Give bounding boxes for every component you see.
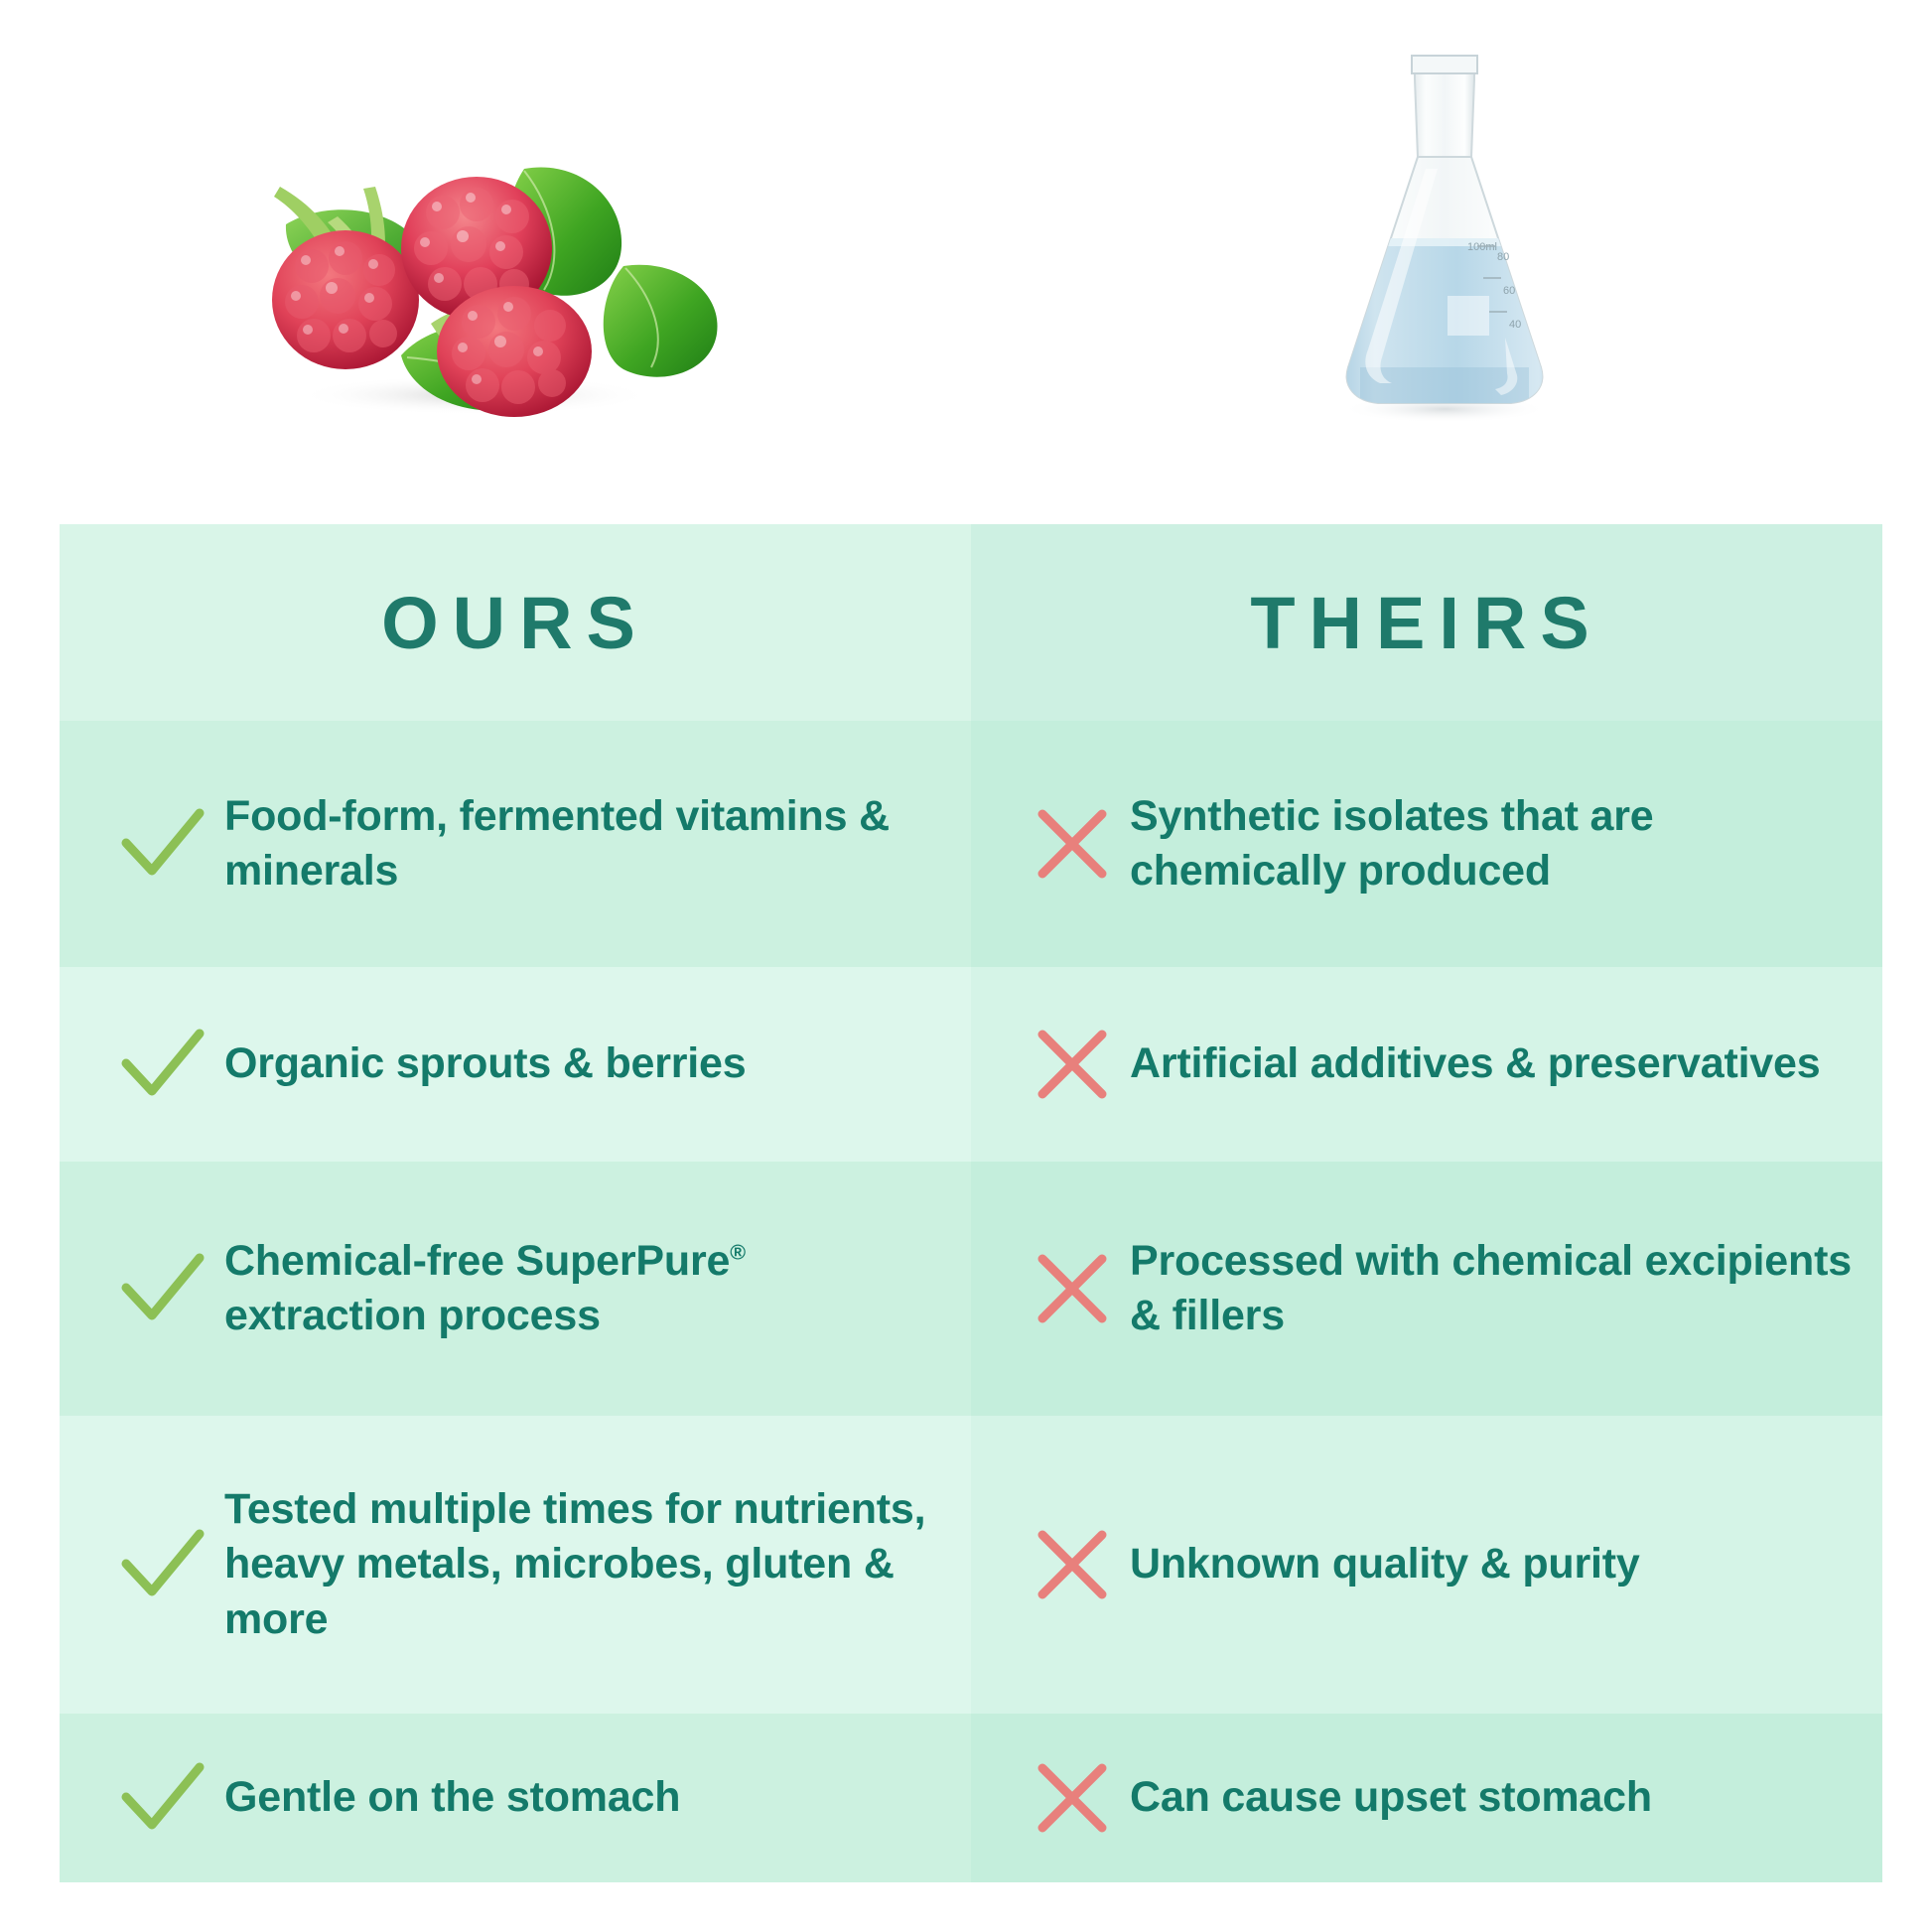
flask-label-40: 40	[1509, 319, 1521, 331]
row-text: Artificial additives & preservatives	[1130, 1036, 1820, 1091]
check-icon	[115, 805, 210, 883]
table-row: Synthetic isolates that are chemically p…	[971, 721, 1882, 967]
table-row: Processed with chemical excipients & fil…	[971, 1162, 1882, 1416]
table-row: Chemical-free SuperPure® extraction proc…	[60, 1162, 971, 1416]
cross-icon	[1027, 1027, 1118, 1102]
row-text-part2: extraction process	[224, 1292, 601, 1339]
hero-images: 100ml 80 60 40	[0, 0, 1932, 516]
comparison-infographic: 100ml 80 60 40 OURS	[0, 0, 1932, 1932]
table-row: Unknown quality & purity	[971, 1416, 1882, 1714]
row-text: Synthetic isolates that are chemically p…	[1130, 789, 1853, 898]
comparison-table: OURS Food-form, fermented vitamins & min…	[60, 524, 1882, 1882]
check-icon	[115, 1526, 210, 1603]
table-row: Food-form, fermented vitamins & minerals	[60, 721, 971, 967]
column-header-ours: OURS	[60, 524, 971, 721]
row-text: Gentle on the stomach	[224, 1770, 680, 1825]
table-row: Tested multiple times for nutrients, hea…	[60, 1416, 971, 1714]
cross-icon	[1027, 1251, 1118, 1326]
registered-mark: ®	[730, 1241, 746, 1265]
check-icon	[115, 1759, 210, 1837]
table-row: Artificial additives & preservatives	[971, 967, 1882, 1162]
laboratory-flask-image: 100ml 80 60 40	[1320, 40, 1569, 457]
column-ours: OURS Food-form, fermented vitamins & min…	[60, 524, 971, 1882]
check-icon	[115, 1026, 210, 1103]
flask-label-60: 60	[1503, 285, 1515, 297]
column-header-theirs: THEIRS	[971, 524, 1882, 721]
raspberry-3	[437, 286, 592, 417]
row-text: Organic sprouts & berries	[224, 1036, 747, 1091]
cross-icon	[1027, 1760, 1118, 1836]
row-text: Can cause upset stomach	[1130, 1770, 1652, 1825]
cross-icon	[1027, 1527, 1118, 1602]
flask-label-80: 80	[1497, 251, 1509, 263]
table-row: Organic sprouts & berries	[60, 967, 971, 1162]
check-icon	[115, 1250, 210, 1327]
cross-icon	[1027, 806, 1118, 882]
flask-label-100ml: 100ml	[1467, 241, 1497, 253]
row-text: Processed with chemical excipients & fil…	[1130, 1234, 1853, 1343]
table-row: Gentle on the stomach	[60, 1714, 971, 1882]
row-text: Food-form, fermented vitamins & minerals	[224, 789, 941, 898]
raspberries-image	[226, 139, 723, 417]
table-row: Can cause upset stomach	[971, 1714, 1882, 1882]
row-text: Chemical-free SuperPure® extraction proc…	[224, 1234, 941, 1343]
column-theirs: THEIRS Synthetic isolates that are chemi…	[971, 524, 1882, 1882]
raspberry-1	[272, 230, 419, 369]
row-text: Unknown quality & purity	[1130, 1537, 1640, 1591]
row-text: Tested multiple times for nutrients, hea…	[224, 1482, 941, 1646]
row-text-part1: Chemical-free SuperPure	[224, 1237, 730, 1285]
